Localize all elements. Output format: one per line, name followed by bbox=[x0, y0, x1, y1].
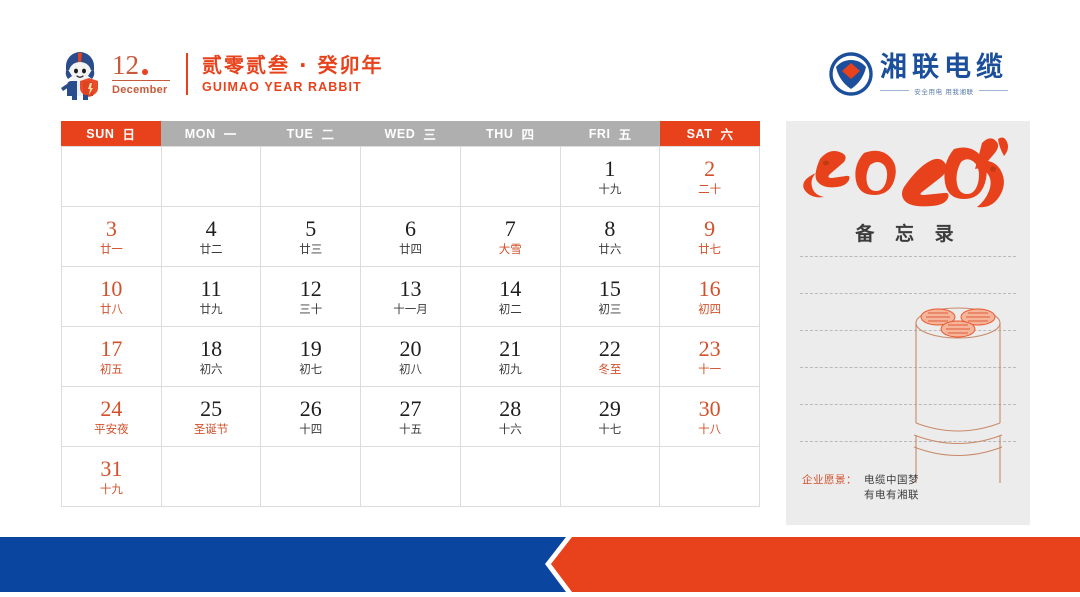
day-cell[interactable]: 28十六 bbox=[461, 387, 561, 447]
day-number: 30 bbox=[699, 397, 721, 421]
weekday-cn: 四 bbox=[522, 124, 535, 143]
day-cell[interactable]: 11廿九 bbox=[162, 267, 262, 327]
day-lunar-label: 初九 bbox=[499, 362, 522, 377]
day-cell-empty bbox=[162, 447, 262, 507]
footer-bar bbox=[0, 537, 1080, 592]
day-cell[interactable]: 7大雪 bbox=[461, 207, 561, 267]
day-number: 18 bbox=[200, 337, 222, 361]
day-number: 26 bbox=[300, 397, 322, 421]
day-lunar-label: 圣诞节 bbox=[194, 422, 229, 437]
company-brand: 湘联电缆 安全用电 用我湘联 bbox=[829, 52, 1008, 96]
day-number: 25 bbox=[200, 397, 222, 421]
day-cell[interactable]: 18初六 bbox=[162, 327, 262, 387]
day-cell-empty bbox=[660, 447, 760, 507]
day-lunar-label: 廿七 bbox=[698, 242, 721, 257]
day-lunar-label: 廿一 bbox=[100, 242, 123, 257]
day-cell[interactable]: 2二十 bbox=[660, 147, 760, 207]
day-lunar-label: 十一 bbox=[698, 362, 721, 377]
day-cell[interactable]: 14初二 bbox=[461, 267, 561, 327]
weekday-header-sat: SAT六 bbox=[660, 121, 760, 146]
weekday-header-thu: THU四 bbox=[460, 121, 560, 146]
day-number: 5 bbox=[305, 217, 316, 241]
day-lunar-label: 廿四 bbox=[399, 242, 422, 257]
day-lunar-label: 初七 bbox=[299, 362, 322, 377]
month-underline bbox=[112, 80, 170, 82]
day-lunar-label: 十八 bbox=[698, 422, 721, 437]
day-lunar-label: 廿六 bbox=[598, 242, 621, 257]
calendar-grid: SUN日MON一TUE二WED三THU四FRI五SAT六 1十九2二十3廿一4廿… bbox=[61, 121, 760, 507]
rabbit-calligraphy-icon bbox=[786, 133, 1030, 213]
day-cell-empty bbox=[461, 147, 561, 207]
day-number: 6 bbox=[405, 217, 416, 241]
day-number: 24 bbox=[100, 397, 122, 421]
day-number: 17 bbox=[100, 337, 122, 361]
day-number: 12 bbox=[300, 277, 322, 301]
day-cell[interactable]: 20初八 bbox=[361, 327, 461, 387]
day-cell[interactable]: 3廿一 bbox=[62, 207, 162, 267]
day-number: 19 bbox=[300, 337, 322, 361]
day-cell[interactable]: 16初四 bbox=[660, 267, 760, 327]
day-lunar-label: 廿九 bbox=[200, 302, 223, 317]
day-number: 13 bbox=[399, 277, 421, 301]
day-number: 1 bbox=[604, 157, 615, 181]
weekday-header-row: SUN日MON一TUE二WED三THU四FRI五SAT六 bbox=[61, 121, 760, 146]
tagline-rule-right bbox=[979, 90, 1008, 91]
weekday-cn: 六 bbox=[720, 124, 733, 143]
calendar-page: 12 December 贰零贰叁 · 癸卯年 GUIMAO YEAR RABBI… bbox=[0, 0, 1080, 592]
weekday-header-wed: WED三 bbox=[361, 121, 461, 146]
day-number: 7 bbox=[505, 217, 516, 241]
day-number: 4 bbox=[206, 217, 217, 241]
weekday-en: THU bbox=[486, 127, 514, 141]
day-lunar-label: 初八 bbox=[399, 362, 422, 377]
company-vision: 企业愿景： 电缆中国梦 有电有湘联 bbox=[802, 473, 919, 503]
day-lunar-label: 十九 bbox=[598, 182, 621, 197]
vision-line-1: 电缆中国梦 bbox=[864, 473, 919, 488]
day-lunar-label: 廿二 bbox=[200, 242, 223, 257]
day-cell-empty bbox=[162, 147, 262, 207]
day-cell[interactable]: 22冬至 bbox=[561, 327, 661, 387]
day-number: 15 bbox=[599, 277, 621, 301]
day-number: 28 bbox=[499, 397, 521, 421]
day-grid: 1十九2二十3廿一4廿二5廿三6廿四7大雪8廿六9廿七10廿八11廿九12三十1… bbox=[61, 146, 760, 507]
weekday-cn: 三 bbox=[423, 124, 436, 143]
day-cell[interactable]: 19初七 bbox=[261, 327, 361, 387]
day-cell[interactable]: 27十五 bbox=[361, 387, 461, 447]
day-number: 27 bbox=[399, 397, 421, 421]
memo-title: 备 忘 录 bbox=[786, 219, 1030, 246]
day-lunar-label: 十六 bbox=[499, 422, 522, 437]
weekday-en: TUE bbox=[287, 127, 314, 141]
day-lunar-label: 十一月 bbox=[393, 302, 428, 317]
day-cell[interactable]: 24平安夜 bbox=[62, 387, 162, 447]
day-lunar-label: 初四 bbox=[698, 302, 721, 317]
weekday-en: WED bbox=[384, 127, 415, 141]
day-cell-empty bbox=[361, 447, 461, 507]
day-cell-empty bbox=[461, 447, 561, 507]
year-english: GUIMAO YEAR RABBIT bbox=[202, 79, 384, 95]
year-block: 贰零贰叁 · 癸卯年 GUIMAO YEAR RABBIT bbox=[202, 53, 384, 95]
day-number: 22 bbox=[599, 337, 621, 361]
day-cell[interactable]: 23十一 bbox=[660, 327, 760, 387]
day-lunar-label: 初三 bbox=[598, 302, 621, 317]
day-number: 11 bbox=[200, 277, 221, 301]
day-lunar-label: 十九 bbox=[100, 482, 123, 497]
day-number: 3 bbox=[106, 217, 117, 241]
day-cell[interactable]: 12三十 bbox=[261, 267, 361, 327]
weekday-cn: 二 bbox=[321, 124, 334, 143]
day-lunar-label: 初二 bbox=[499, 302, 522, 317]
company-name: 湘联电缆 bbox=[880, 53, 1008, 83]
weekday-cn: 五 bbox=[619, 124, 632, 143]
day-cell[interactable]: 25圣诞节 bbox=[162, 387, 262, 447]
year-chinese: 贰零贰叁 · 癸卯年 bbox=[202, 53, 384, 77]
day-lunar-label: 三十 bbox=[299, 302, 322, 317]
day-cell-empty bbox=[361, 147, 461, 207]
day-number: 10 bbox=[100, 277, 122, 301]
weekday-cn: 日 bbox=[122, 124, 135, 143]
day-number: 8 bbox=[604, 217, 615, 241]
page-header: 12 December 贰零贰叁 · 癸卯年 GUIMAO YEAR RABBI… bbox=[0, 0, 1080, 118]
month-brand: 12 December 贰零贰叁 · 癸卯年 GUIMAO YEAR RABBI… bbox=[56, 48, 384, 100]
day-lunar-label: 十七 bbox=[598, 422, 621, 437]
cable-illustration-icon bbox=[894, 293, 1022, 483]
day-lunar-label: 平安夜 bbox=[94, 422, 129, 437]
day-cell[interactable]: 4廿二 bbox=[162, 207, 262, 267]
day-cell[interactable]: 6廿四 bbox=[361, 207, 461, 267]
weekday-header-sun: SUN日 bbox=[61, 121, 161, 146]
day-number: 16 bbox=[699, 277, 721, 301]
month-block: 12 December bbox=[112, 52, 170, 97]
day-number: 20 bbox=[399, 337, 421, 361]
weekday-en: FRI bbox=[589, 127, 611, 141]
day-cell[interactable]: 30十八 bbox=[660, 387, 760, 447]
month-name: December bbox=[112, 84, 168, 96]
day-cell[interactable]: 13十一月 bbox=[361, 267, 461, 327]
day-cell-empty bbox=[561, 447, 661, 507]
day-lunar-label: 二十 bbox=[698, 182, 721, 197]
weekday-header-mon: MON一 bbox=[161, 121, 261, 146]
weekday-header-tue: TUE二 bbox=[261, 121, 361, 146]
day-lunar-label: 初五 bbox=[100, 362, 123, 377]
day-cell[interactable]: 8廿六 bbox=[561, 207, 661, 267]
weekday-en: SUN bbox=[86, 127, 114, 141]
day-lunar-label: 初六 bbox=[200, 362, 223, 377]
day-number: 31 bbox=[100, 457, 122, 481]
day-cell[interactable]: 5廿三 bbox=[261, 207, 361, 267]
day-number: 23 bbox=[699, 337, 721, 361]
day-lunar-label: 廿八 bbox=[100, 302, 123, 317]
weekday-en: MON bbox=[185, 127, 216, 141]
day-cell-empty bbox=[62, 147, 162, 207]
tagline-rule-left bbox=[880, 90, 909, 91]
weekday-cn: 一 bbox=[224, 124, 237, 143]
mascot-icon bbox=[56, 48, 104, 100]
day-cell-empty bbox=[261, 447, 361, 507]
day-lunar-label: 十四 bbox=[299, 422, 322, 437]
day-cell-empty bbox=[261, 147, 361, 207]
day-cell[interactable]: 26十四 bbox=[261, 387, 361, 447]
weekday-en: SAT bbox=[687, 127, 713, 141]
company-tagline: 安全用电 用我湘联 bbox=[914, 86, 973, 96]
day-lunar-label: 大雪 bbox=[499, 242, 522, 257]
day-number: 9 bbox=[704, 217, 715, 241]
day-number: 2 bbox=[704, 157, 715, 181]
month-number: 12 bbox=[112, 52, 139, 79]
day-lunar-label: 廿三 bbox=[299, 242, 322, 257]
day-cell[interactable]: 21初九 bbox=[461, 327, 561, 387]
memo-panel: 备 忘 录 bbox=[786, 121, 1030, 525]
month-dot-icon bbox=[142, 69, 148, 75]
vision-label: 企业愿景： bbox=[802, 473, 857, 488]
vision-line-2: 有电有湘联 bbox=[864, 488, 919, 503]
day-cell[interactable]: 17初五 bbox=[62, 327, 162, 387]
day-cell[interactable]: 10廿八 bbox=[62, 267, 162, 327]
company-logo-icon bbox=[829, 52, 873, 96]
day-cell[interactable]: 1十九 bbox=[561, 147, 661, 207]
day-lunar-label: 十五 bbox=[399, 422, 422, 437]
day-cell[interactable]: 15初三 bbox=[561, 267, 661, 327]
day-lunar-label: 冬至 bbox=[598, 362, 621, 377]
header-divider bbox=[186, 53, 188, 95]
day-cell[interactable]: 29十七 bbox=[561, 387, 661, 447]
company-tagline-row: 安全用电 用我湘联 bbox=[880, 86, 1008, 96]
day-cell[interactable]: 9廿七 bbox=[660, 207, 760, 267]
weekday-header-fri: FRI五 bbox=[560, 121, 660, 146]
day-cell[interactable]: 31十九 bbox=[62, 447, 162, 507]
memo-line[interactable] bbox=[800, 256, 1016, 293]
day-number: 14 bbox=[499, 277, 521, 301]
day-number: 29 bbox=[599, 397, 621, 421]
day-number: 21 bbox=[499, 337, 521, 361]
